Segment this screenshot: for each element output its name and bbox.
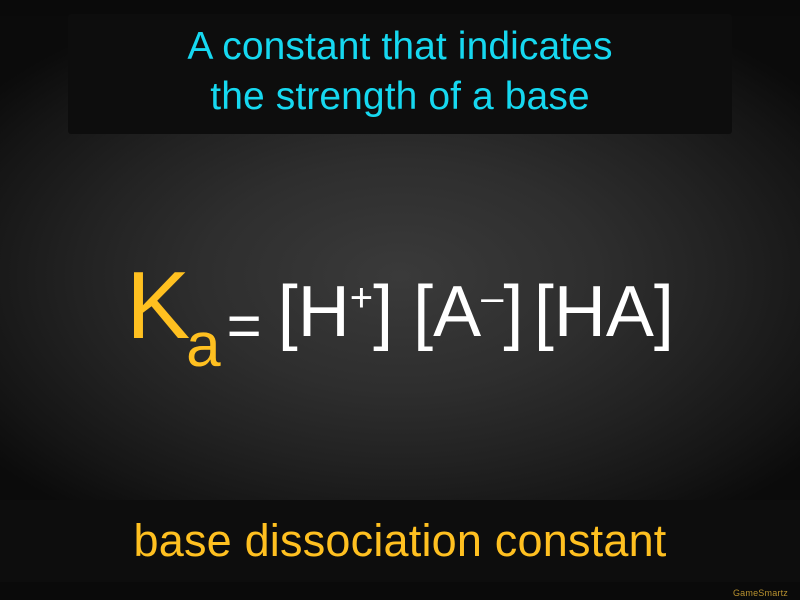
- numerator-segment-1: [H: [278, 272, 350, 352]
- definition-card: A constant that indicates the strength o…: [0, 0, 800, 600]
- formula-block: Ka = [H+] [A–] [HA]: [0, 190, 800, 430]
- ka-symbol-subscript: a: [186, 311, 220, 380]
- equals-sign: =: [227, 296, 262, 356]
- bottom-band: [0, 582, 800, 600]
- numerator-segment-2: ] [A: [373, 272, 481, 352]
- numerator-superscript-plus: +: [350, 276, 373, 320]
- term-label: base dissociation constant: [133, 515, 666, 567]
- term-bar: base dissociation constant: [0, 500, 800, 582]
- fraction-denominator: [HA]: [534, 272, 674, 352]
- definition-text-block: A constant that indicates the strength o…: [68, 14, 732, 134]
- definition-line-1: A constant that indicates: [78, 22, 722, 72]
- watermark-label: GameSmartz: [733, 588, 788, 598]
- numerator-superscript-minus: –: [481, 276, 503, 320]
- fraction: [H+] [A–] [HA]: [272, 269, 674, 355]
- ka-symbol: Ka: [126, 258, 225, 354]
- numerator-segment-3: ]: [503, 272, 523, 352]
- ka-symbol-letter: K: [126, 252, 190, 359]
- fraction-numerator: [H+] [A–]: [272, 272, 530, 352]
- definition-line-2: the strength of a base: [78, 72, 722, 122]
